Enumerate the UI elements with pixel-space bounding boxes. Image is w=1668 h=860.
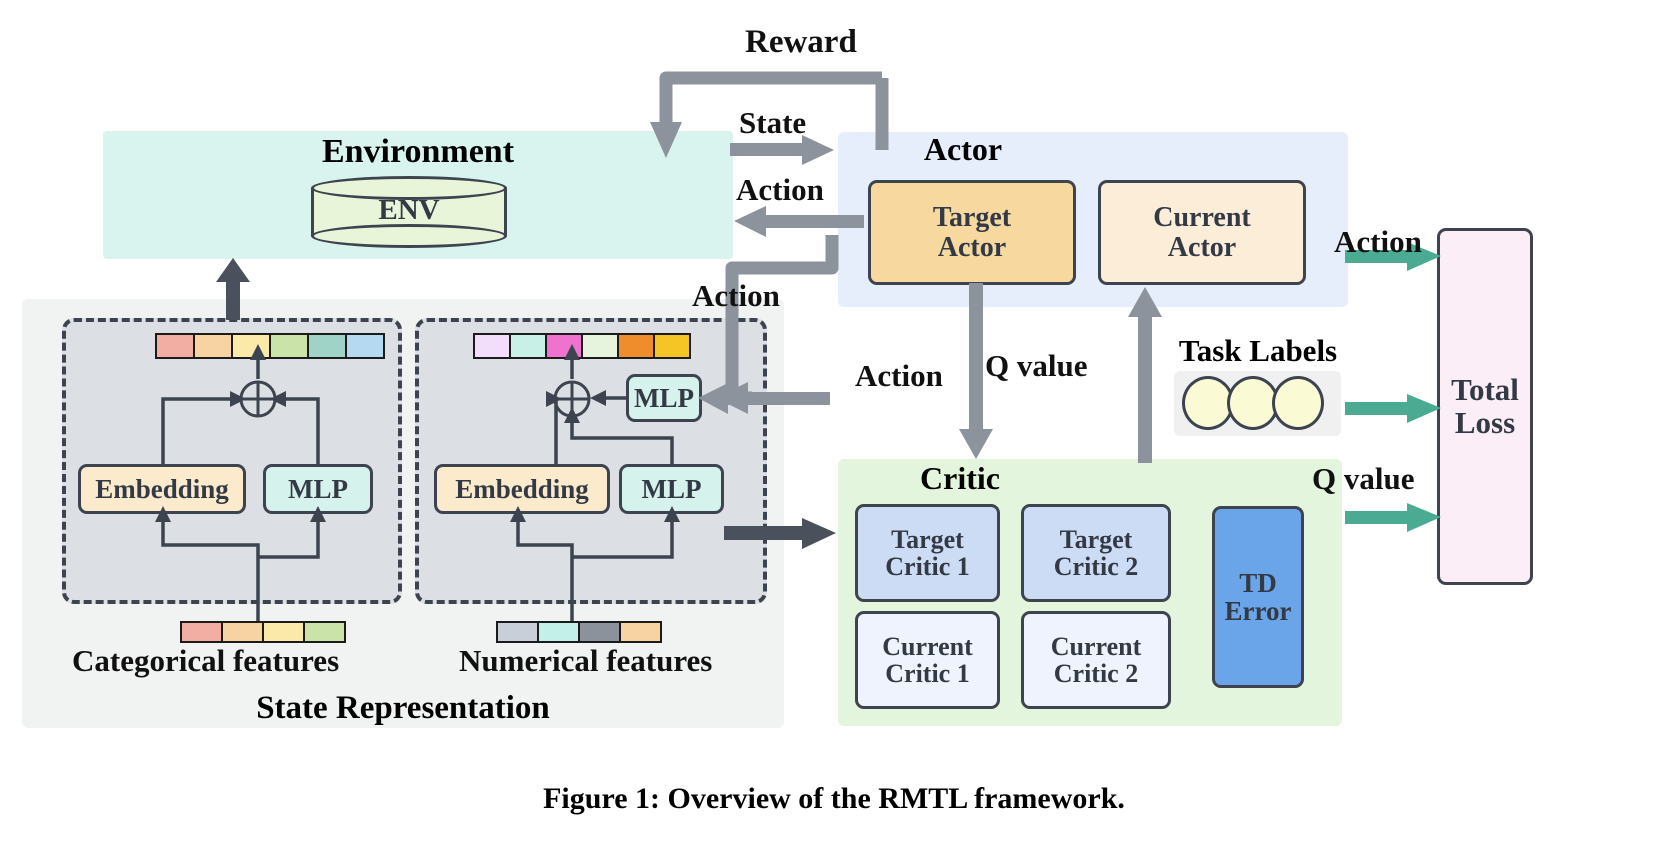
state-to-env-arrow [212, 258, 256, 320]
target-critic-2-line1: Target [1054, 526, 1138, 553]
total-loss-node[interactable]: Total Loss [1437, 228, 1533, 585]
target-critic-1-line2: Critic 1 [885, 553, 969, 580]
q-value-to-loss-arrow [1345, 500, 1450, 536]
target-actor-node[interactable]: Target Actor [868, 180, 1076, 285]
current-critic-2-node[interactable]: Current Critic 2 [1021, 611, 1171, 709]
vector-cell [539, 623, 580, 641]
current-critic-1-line2: Critic 1 [882, 660, 973, 687]
current-actor-node[interactable]: Current Actor [1098, 180, 1306, 285]
task-labels-title: Task Labels [1148, 333, 1368, 369]
target-actor-line1: Target [933, 203, 1011, 232]
action-state-rep-label: Action [692, 278, 780, 314]
task-label-discs [1182, 376, 1332, 430]
td-error-line1: TD [1225, 569, 1292, 597]
reward-label: Reward [745, 24, 857, 61]
current-critic-1-line1: Current [882, 633, 973, 660]
total-loss-line2: Loss [1451, 407, 1519, 440]
current-actor-line1: Current [1153, 203, 1250, 232]
action-to-env-label: Action [736, 172, 824, 208]
figure-canvas: Environment ENV Actor Target Actor Curre… [0, 0, 1668, 860]
state-arrow [730, 135, 850, 177]
state-to-critic-arrow [724, 515, 844, 555]
vector-cell [580, 623, 621, 641]
state-label: State [739, 105, 806, 141]
task-disc-3 [1272, 376, 1324, 430]
numerical-features-caption: Numerical features [459, 643, 712, 679]
action-to-loss-label: Action [1334, 224, 1422, 260]
td-error-line2: Error [1225, 597, 1292, 625]
target-critic-2-node[interactable]: Target Critic 2 [1021, 504, 1171, 602]
figure-caption: Figure 1: Overview of the RMTL framework… [0, 782, 1668, 816]
q-value-to-actor-label: Q value [985, 348, 1087, 384]
critic-title: Critic [845, 460, 1075, 497]
action-to-critic-label: Action [855, 358, 943, 394]
q-value-to-actor-arrow [1124, 283, 1168, 463]
current-actor-line2: Actor [1153, 233, 1250, 262]
target-critic-2-line2: Critic 2 [1054, 553, 1138, 580]
td-error-node[interactable]: TD Error [1212, 506, 1304, 688]
target-critic-1-line1: Target [885, 526, 969, 553]
target-critic-1-node[interactable]: Target Critic 1 [855, 504, 1000, 602]
action-mlp-feed-arrow [700, 382, 830, 416]
vector-cell [621, 623, 660, 641]
vector-cell [498, 623, 539, 641]
numerical-input-vector [496, 621, 662, 643]
target-actor-line2: Actor [933, 233, 1011, 262]
current-critic-2-line1: Current [1051, 633, 1142, 660]
current-critic-1-node[interactable]: Current Critic 1 [855, 611, 1000, 709]
total-loss-line1: Total [1451, 374, 1519, 407]
task-labels-to-loss-arrow [1345, 391, 1450, 427]
q-value-to-loss-label: Q value [1312, 461, 1414, 497]
current-critic-2-line2: Critic 2 [1051, 660, 1142, 687]
